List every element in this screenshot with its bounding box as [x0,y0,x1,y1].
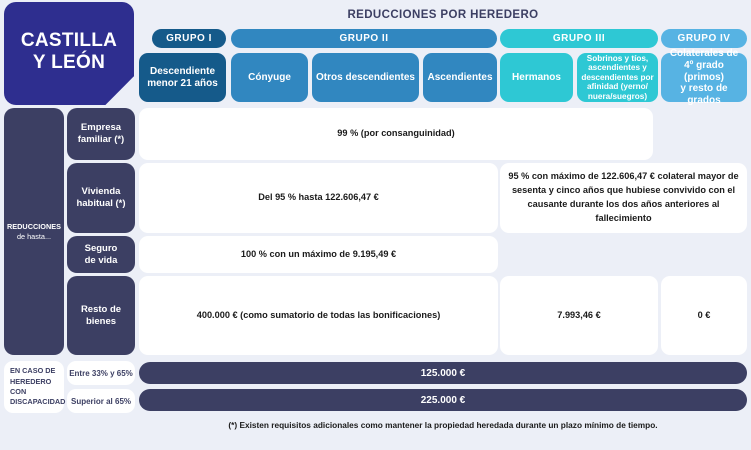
cell-value: 95 % con máximo de 122.606,47 € colatera… [508,170,739,225]
heir-card-label: Hermanos [512,72,561,84]
disability-tier-label-entre-33-65: Entre 33% y 65% [67,361,135,385]
group-pill-row: GRUPO I GRUPO II GRUPO III GRUPO IV [0,29,751,49]
group-pill-grupo-3: GRUPO III [500,29,658,48]
row-label-text: Viviendahabitual (*) [76,186,125,209]
cell-value: 99 % (por consanguinidad) [337,127,454,140]
heir-card-label: Cónyuge [248,72,291,84]
disability-tier-value: 125.000 € [421,368,466,379]
disability-label-text: EN CASO DEHEREDEROCONDISCAPACIDAD [10,366,65,407]
group-pill-label: GRUPO II [339,33,388,44]
reducciones-column-label: REDUCCIONES de hasta... [4,108,64,355]
group-pill-grupo-1: GRUPO I [152,29,226,48]
heir-card-descendiente-menor-21: Descendientemenor 21 años [139,53,226,102]
infographic-root: CASTILLAY LEÓN REDUCCIONES POR HEREDERO … [0,0,751,450]
disability-tier-label: Entre 33% y 65% [69,369,133,378]
reducciones-label-line2: de hasta... [17,232,51,241]
group-pill-label: GRUPO IV [678,33,731,44]
heir-card-hermanos: Hermanos [500,53,573,102]
row-label-seguro-de-vida: Segurode vida [67,236,135,273]
row-label-empresa-familiar: Empresafamiliar (*) [67,108,135,160]
disability-tier-label: Superior al 65% [71,397,131,406]
heir-card-colaterales-4-grado: Colaterales de4º grado (primos)y resto d… [661,53,747,102]
header-banner: REDUCCIONES POR HEREDERO [139,4,747,26]
row-label-text: Empresafamiliar (*) [78,122,124,145]
group-pill-label: GRUPO III [553,33,605,44]
cell-value: 100 % con un máximo de 9.195,49 € [241,248,396,261]
cell-vivienda-habitual-main: Del 95 % hasta 122.606,47 € [139,163,498,233]
cell-vivienda-habitual-grupo3-4: 95 % con máximo de 122.606,47 € colatera… [500,163,747,233]
disability-tier-label-superior-65: Superior al 65% [67,389,135,413]
row-label-resto-de-bienes: Resto debienes [67,276,135,355]
group-pill-label: GRUPO I [166,33,212,44]
cell-value: 0 € [698,309,711,322]
heir-card-label: Ascendientes [427,72,492,84]
disability-tier-value-entre-33-65: 125.000 € [139,362,747,384]
footnote: (*) Existen requisitos adicionales como … [139,418,747,432]
cell-value: 7.993,46 € [557,309,600,322]
cell-resto-de-bienes-main: 400.000 € (como sumatorio de todas las b… [139,276,498,355]
cell-value: 400.000 € (como sumatorio de todas las b… [197,309,441,322]
heir-card-label: Colaterales de4º grado (primos)y resto d… [664,48,744,107]
heir-card-otros-descendientes: Otros descendientes [312,53,419,102]
heir-card-label: Sobrinos y tíos,ascendientes ydescendien… [581,54,653,101]
cell-empresa-familiar-main: 99 % (por consanguinidad) [139,108,653,160]
heir-card-row: Descendientemenor 21 años Cónyuge Otros … [0,53,751,102]
heir-card-label: Otros descendientes [316,72,415,84]
row-label-vivienda-habitual: Viviendahabitual (*) [67,163,135,233]
group-pill-grupo-2: GRUPO II [231,29,497,48]
reducciones-label-line1: REDUCCIONES [7,222,61,231]
cell-resto-de-bienes-grupo3: 7.993,46 € [500,276,658,355]
cell-seguro-de-vida-main: 100 % con un máximo de 9.195,49 € [139,236,498,273]
disability-section-label: EN CASO DEHEREDEROCONDISCAPACIDAD [4,361,64,413]
cell-resto-de-bienes-grupo4: 0 € [661,276,747,355]
cell-value: Del 95 % hasta 122.606,47 € [258,191,379,204]
heir-card-label: Descendientemenor 21 años [147,66,218,90]
disability-tier-value-superior-65: 225.000 € [139,389,747,411]
disability-tier-value: 225.000 € [421,395,466,406]
row-label-text: Resto debienes [81,304,121,327]
heir-card-sobrinos-tios: Sobrinos y tíos,ascendientes ydescendien… [577,53,658,102]
group-pill-grupo-4: GRUPO IV [661,29,747,48]
heir-card-ascendientes: Ascendientes [423,53,497,102]
row-label-text: Segurode vida [85,243,118,266]
heir-card-conyuge: Cónyuge [231,53,308,102]
